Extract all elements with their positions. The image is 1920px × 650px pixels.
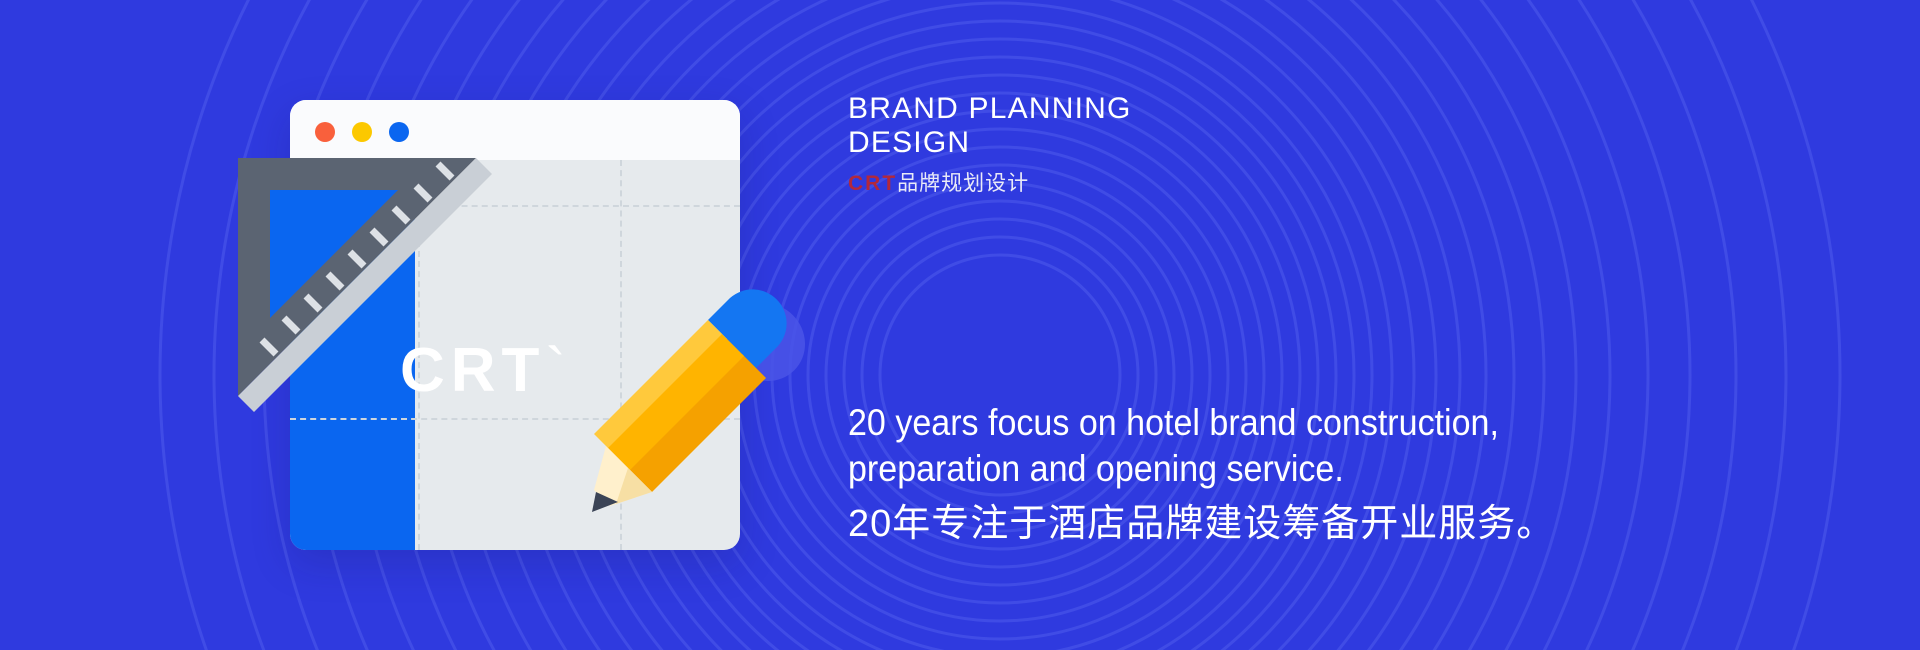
headline-line-1: BRAND PLANNING	[848, 92, 1548, 126]
minimize-dot	[352, 122, 372, 142]
subheadline-text: 品牌规划设计	[897, 172, 1029, 195]
brand-banner: CRT`	[0, 0, 1920, 650]
headline-block: BRAND PLANNING DESIGN CRT品牌规划设计	[848, 92, 1548, 197]
headline-line-2: DESIGN	[848, 126, 1548, 160]
tagline-block: 20 years focus on hotel brand constructi…	[848, 400, 1778, 550]
subheadline: CRT品牌规划设计	[848, 167, 1548, 197]
tagline-cn-line: 20年专注于酒店品牌建设筹备开业服务。	[848, 498, 1778, 550]
hero-illustration: CRT`	[0, 0, 840, 650]
pencil-icon	[580, 280, 810, 520]
subheadline-brand: CRT	[848, 172, 897, 195]
card-logo-mark: `	[545, 336, 572, 405]
maximize-dot	[389, 122, 409, 142]
triangle-ruler-icon	[230, 150, 530, 450]
close-dot	[315, 122, 335, 142]
tagline-en-line-1: 20 years focus on hotel brand constructi…	[848, 400, 1704, 446]
tagline-en-line-2: preparation and opening service.	[848, 446, 1704, 492]
